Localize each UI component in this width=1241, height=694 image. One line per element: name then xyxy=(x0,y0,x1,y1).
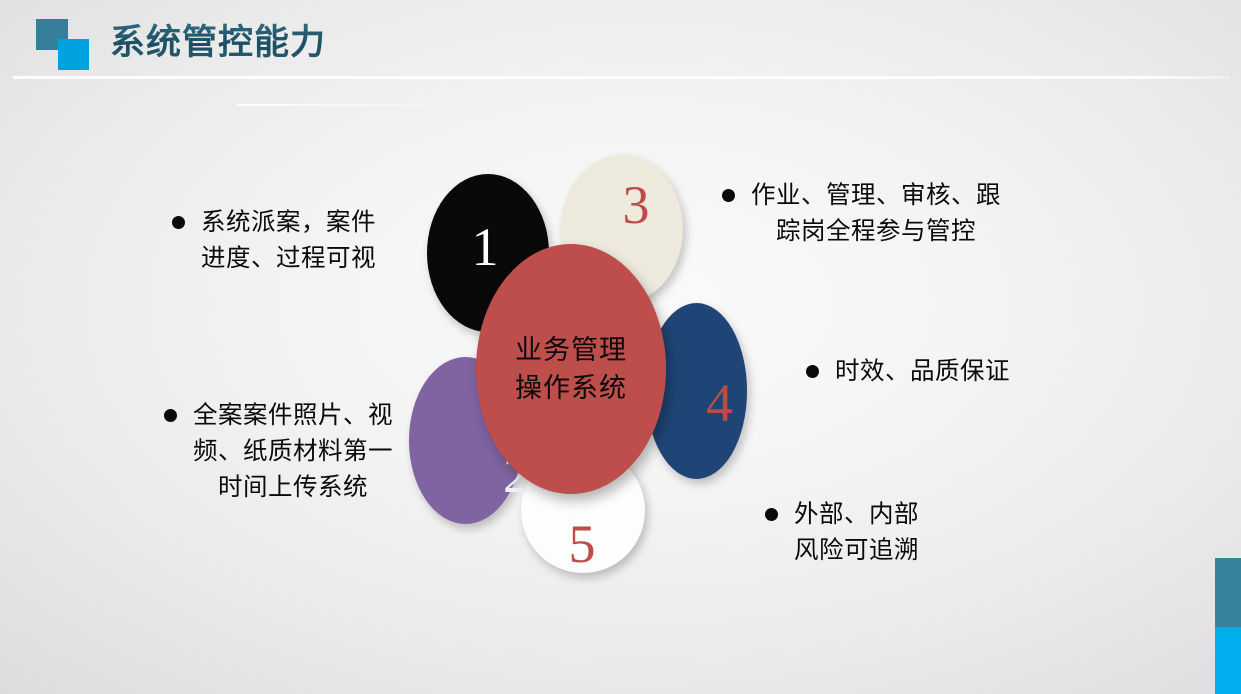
callout-right-1: 作业、管理、审核、跟 踪岗全程参与管控 xyxy=(722,178,1040,250)
page-title: 系统管控能力 xyxy=(110,22,326,64)
bullet-dot-icon xyxy=(765,508,778,521)
bullet-dot-icon xyxy=(164,409,177,422)
decorative-square-cyan-icon xyxy=(58,39,89,70)
callout-right-1-text: 作业、管理、审核、跟 踪岗全程参与管控 xyxy=(751,178,1001,250)
edge-accent-teal xyxy=(1215,558,1241,627)
callout-right-3-text: 外部、内部 风险可追溯 xyxy=(794,497,919,569)
edge-accent-cyan xyxy=(1215,627,1241,694)
slide-canvas: 系统管控能力 1 3 4 2 5 业务管理 操作系统 系统派案，案件 进度、过程… xyxy=(0,0,1241,694)
callout-left-1-text: 系统派案，案件 进度、过程可视 xyxy=(201,205,376,277)
callout-right-2-text: 时效、品质保证 xyxy=(835,354,1010,390)
bullet-dot-icon xyxy=(722,189,735,202)
callout-right-3: 外部、内部 风险可追溯 xyxy=(765,497,991,569)
callout-left-1: 系统派案，案件 进度、过程可视 xyxy=(172,205,416,277)
header-divider xyxy=(13,76,1230,79)
bullet-dot-icon xyxy=(172,216,185,229)
petal-number-3: 3 xyxy=(623,178,650,232)
callout-left-2: 全案案件照片、视 频、纸质材料第一 时间上传系统 xyxy=(164,398,430,505)
callout-right-2: 时效、品质保证 xyxy=(806,354,1044,390)
petal-number-5: 5 xyxy=(569,517,596,571)
petal-number-4: 4 xyxy=(706,376,733,430)
center-ellipse-label: 业务管理 操作系统 xyxy=(515,331,627,408)
bullet-dot-icon xyxy=(806,365,819,378)
header-divider-secondary xyxy=(237,104,452,106)
center-ellipse: 业务管理 操作系统 xyxy=(476,244,666,494)
callout-left-2-text: 全案案件照片、视 频、纸质材料第一 时间上传系统 xyxy=(193,398,393,505)
petal-number-1: 1 xyxy=(472,220,499,274)
